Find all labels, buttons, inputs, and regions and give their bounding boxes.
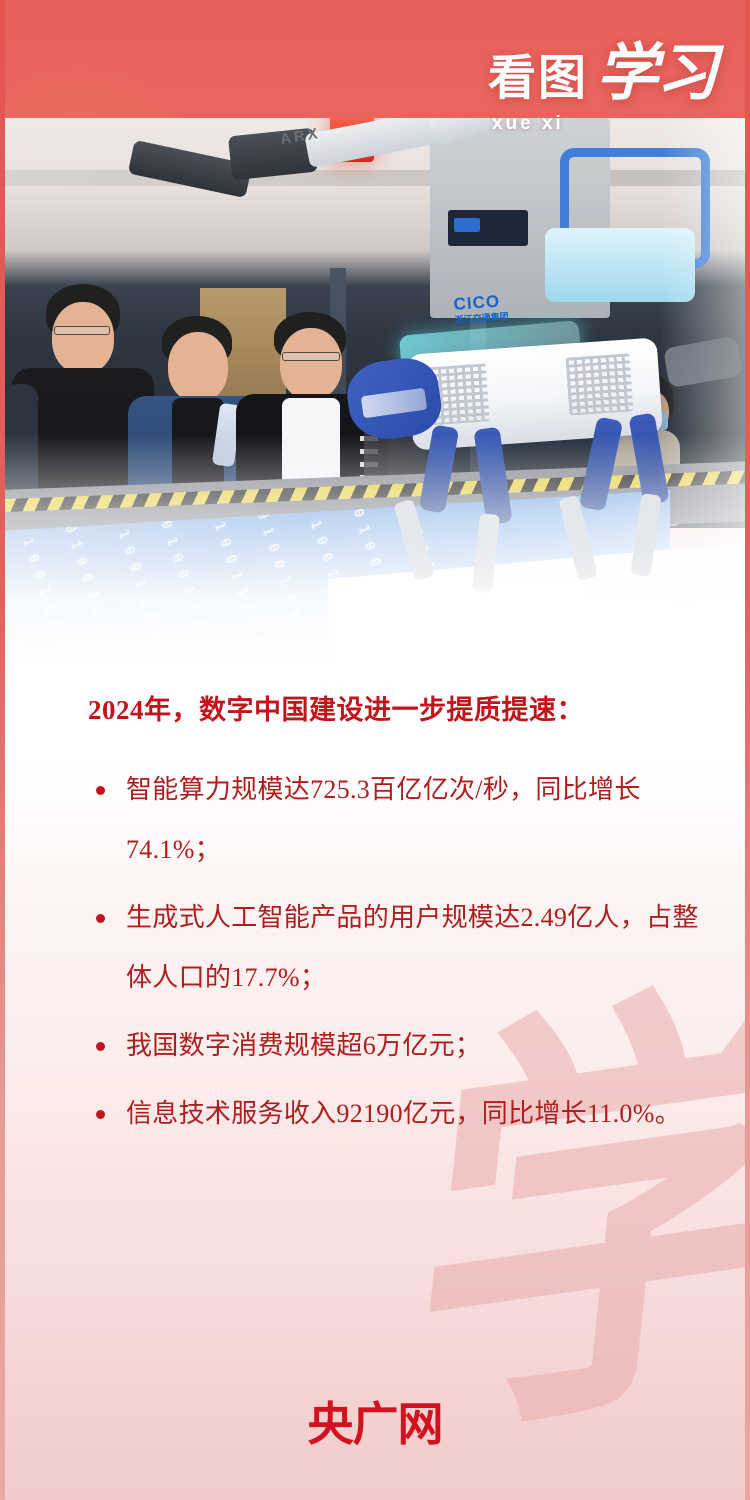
list-item: 信息技术服务收入92190亿元，同比增长11.0%。 [88, 1084, 704, 1144]
program-logo: 看图 学习 xue xi [488, 48, 716, 135]
exhibition-photo: ARX [0, 118, 750, 665]
program-logo-cursive: 学习 [596, 48, 716, 100]
list-item: 生成式人工智能产品的用户规模达2.49亿人，占整体人口的17.7%； [88, 888, 704, 1008]
content-block: 2024年，数字中国建设进一步提质提速： 智能算力规模达725.3百亿亿次/秒，… [0, 690, 750, 1152]
publisher-logo: 央广网 [308, 1388, 443, 1454]
page-title: 2024年，数字中国建设进一步提质提速： [0, 690, 750, 730]
program-logo-main: 看图 学习 [488, 48, 716, 105]
left-edge-border [0, 0, 5, 1500]
photo-mask: ARX [0, 118, 750, 665]
list-item: 智能算力规模达725.3百亿亿次/秒，同比增长74.1%； [88, 760, 704, 880]
photo-bottom-fade [0, 435, 750, 665]
program-logo-pinyin: xue xi [492, 113, 716, 135]
right-edge-border [745, 0, 750, 1500]
poster-root: 学 [0, 0, 750, 1500]
facts-list: 智能算力规模达725.3百亿亿次/秒，同比增长74.1%； 生成式人工智能产品的… [0, 760, 750, 1144]
footer: 央广网 [0, 1388, 750, 1454]
program-logo-text: 看图 [488, 53, 588, 105]
list-item: 我国数字消费规模超6万亿元； [88, 1016, 704, 1076]
hero-image: ARX [0, 0, 750, 665]
